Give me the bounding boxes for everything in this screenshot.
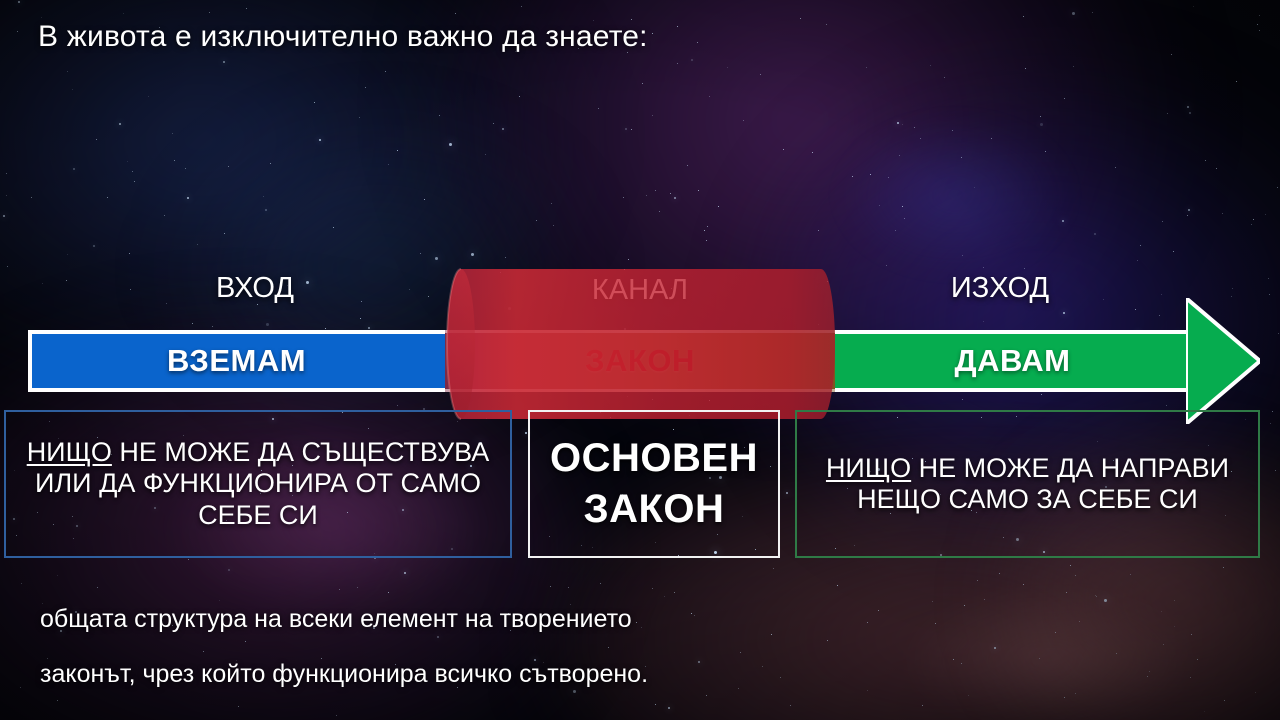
statement-box-output: НИЩО НЕ МОЖЕ ДА НАПРАВИ НЕЩО САМО ЗА СЕБ…	[795, 410, 1260, 558]
flow-label-input: ВЗЕМАМ	[28, 330, 445, 392]
statement-text-output: НИЩО НЕ МОЖЕ ДА НАПРАВИ НЕЩО САМО ЗА СЕБ…	[797, 453, 1258, 516]
footer-line-2: законът, чрез който функционира всичко с…	[40, 660, 648, 689]
flow-label-output: ДАВАМ	[835, 330, 1190, 392]
flow-arrow: ВЗЕМАМ ЗАКОН ДАВАМ	[0, 330, 1280, 392]
statement-line1-channel: ОСНОВЕН	[550, 433, 758, 484]
stage-caption-channel: КАНАЛ	[540, 274, 740, 307]
statement-underlined-output: НИЩО	[826, 453, 911, 483]
statement-text-channel: ОСНОВЕН ЗАКОН	[544, 433, 764, 535]
statement-rest-output: НЕ МОЖЕ ДА НАПРАВИ НЕЩО САМО ЗА СЕБЕ СИ	[857, 453, 1229, 514]
page-title: В живота е изключително важно да знаете:	[38, 20, 648, 54]
statement-underlined-input: НИЩО	[27, 437, 112, 467]
footer-line-1: общата структура на всеки елемент на тво…	[40, 605, 632, 634]
stage-caption-output: ИЗХОД	[900, 272, 1100, 305]
statement-text-input: НИЩО НЕ МОЖЕ ДА СЪЩЕСТВУВА ИЛИ ДА ФУНКЦИ…	[6, 437, 510, 531]
statement-box-input: НИЩО НЕ МОЖЕ ДА СЪЩЕСТВУВА ИЛИ ДА ФУНКЦИ…	[4, 410, 512, 558]
statement-box-channel: ОСНОВЕН ЗАКОН	[528, 410, 780, 558]
arrow-head-icon	[1186, 298, 1260, 424]
flow-label-channel: ЗАКОН	[445, 330, 835, 392]
stage-caption-input: ВХОД	[155, 272, 355, 305]
statement-line2-channel: ЗАКОН	[550, 484, 758, 535]
slide: В живота е изключително важно да знаете:…	[0, 0, 1280, 720]
